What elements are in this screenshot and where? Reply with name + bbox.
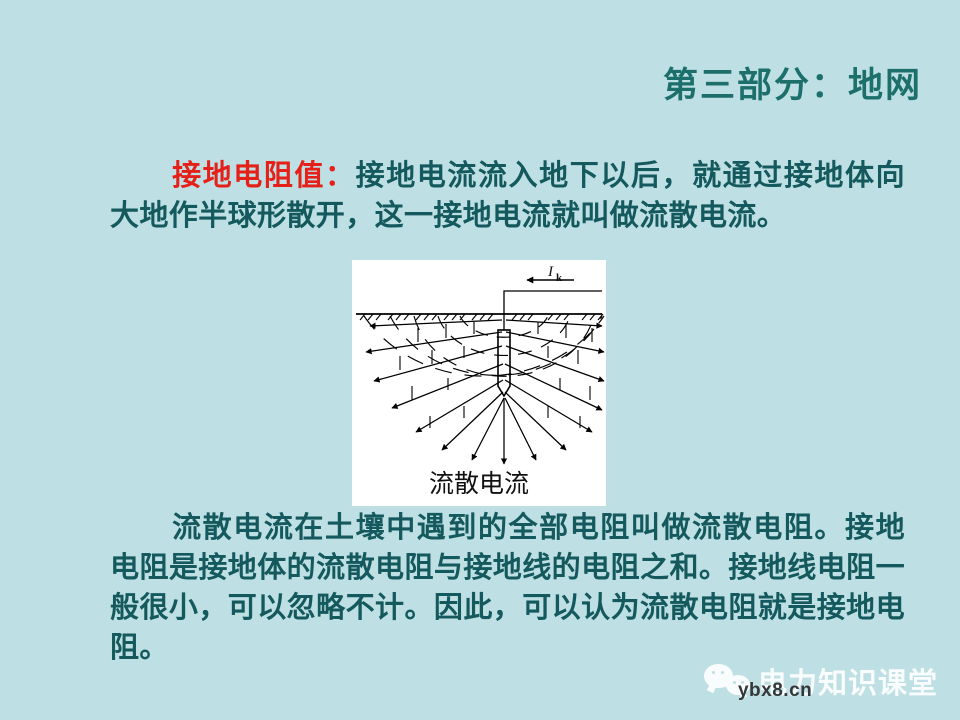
paragraph-explanation: 流散电流在土壤中遇到的全部电阻叫做流散电阻。接地电阻是接地体的流散电阻与接地线的… <box>110 508 905 668</box>
watermark-url: ybx8.cn <box>738 680 812 702</box>
current-label: I <box>547 264 554 280</box>
page-title: 第三部分：地网 <box>663 66 922 106</box>
current-label-subscript: k <box>556 272 563 284</box>
grounding-current-diagram: 流散电流 I k <box>352 260 606 506</box>
watermark: 电力知识课堂 ybx8.cn <box>704 654 938 708</box>
paragraph-explanation-text: 流散电流在土壤中遇到的全部电阻叫做流散电阻。接地电阻是接地体的流散电阻与接地线的… <box>110 512 905 664</box>
figure-caption: 流散电流 <box>429 470 529 498</box>
slide-canvas: 第三部分：地网 接地电阻值：接地电流流入地下以后，就通过接地体向大地作半球形散开… <box>0 0 960 720</box>
paragraph-definition: 接地电阻值：接地电流流入地下以后，就通过接地体向大地作半球形散开，这一接地电流就… <box>110 156 905 236</box>
term-label-grounding-resistance: 接地电阻值： <box>171 160 356 192</box>
